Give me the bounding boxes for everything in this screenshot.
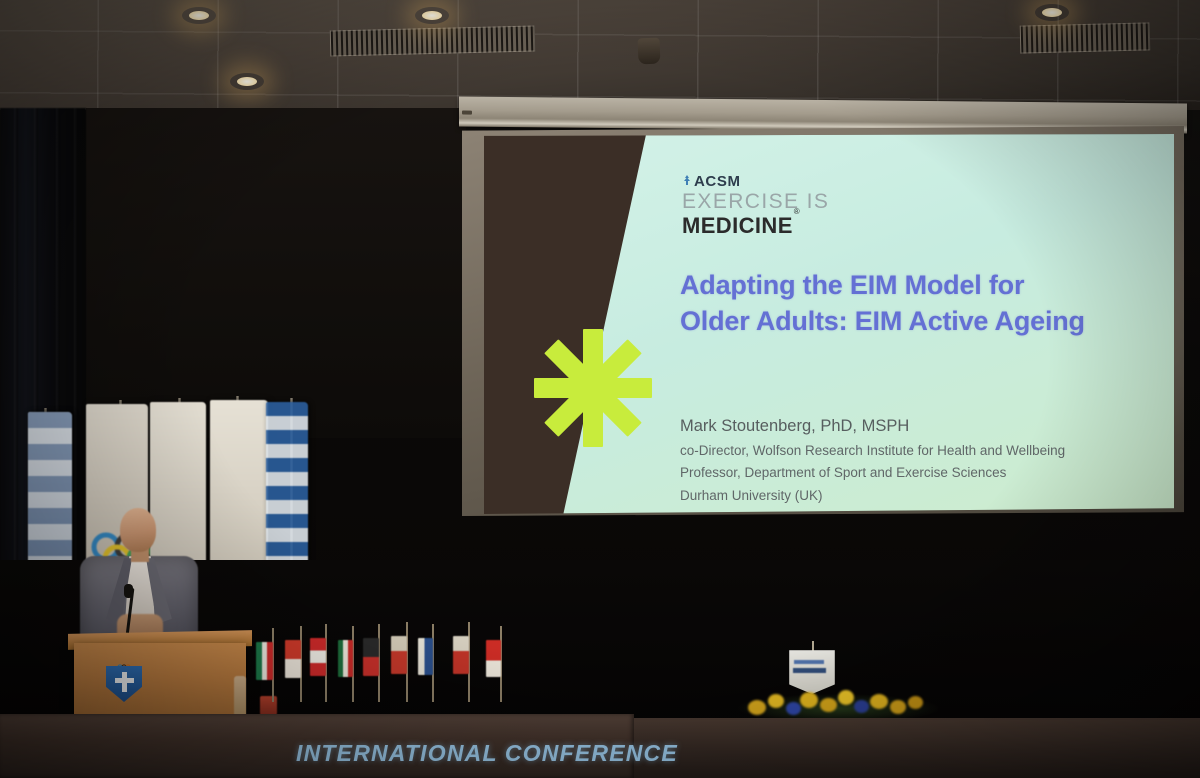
presenter-name: Mark Stoutenberg, PhD, MSPH	[680, 414, 1150, 440]
table-flag	[363, 638, 379, 676]
ceiling-downlight-3	[230, 73, 264, 90]
eim-line1: EXERCISE IS	[682, 190, 882, 214]
rear-wall	[86, 108, 466, 438]
acsm-torch-icon	[682, 175, 692, 186]
presenter-role-2: Professor, Department of Sport and Exerc…	[680, 462, 1150, 485]
stage-front-panel-right	[634, 720, 1200, 778]
ceiling-vent-right	[1020, 22, 1151, 53]
trademark-symbol: ®	[794, 207, 800, 216]
greek-cross-horizontal	[115, 678, 134, 683]
flower-arrangement	[742, 682, 932, 722]
table-flag	[256, 642, 273, 680]
eim-line2: MEDICINE®	[682, 214, 799, 237]
valance-end-cap	[462, 111, 472, 115]
ceiling-vent-left	[330, 25, 536, 56]
asterisk-icon	[529, 324, 657, 452]
ceiling-downlight-2	[415, 7, 449, 24]
slide-title-line1: Adapting the EIM Model for	[680, 267, 1158, 303]
table-flag	[310, 638, 326, 676]
pennant-logo-line-2	[793, 668, 826, 673]
slide-title-line2: Older Adults: EIM Active Ageing	[680, 303, 1158, 339]
pennant-logo-line-1	[794, 660, 824, 664]
podium-crest	[106, 658, 142, 702]
table-flag	[338, 640, 353, 677]
eim-line2-text: MEDICINE	[682, 213, 793, 238]
acsm-wordmark: ACSM	[694, 174, 741, 189]
table-flag	[418, 638, 433, 675]
projection-screen: ACSM EXERCISE IS MEDICINE® Adapting the …	[459, 100, 1187, 518]
speaker-head	[120, 508, 156, 552]
screen-surface: ACSM EXERCISE IS MEDICINE® Adapting the …	[462, 126, 1184, 516]
presenter-affiliation: Durham University (UK)	[680, 485, 1150, 508]
presenter-role-1: co-Director, Wolfson Research Institute …	[680, 440, 1150, 463]
table-flag	[285, 640, 301, 678]
eim-logo: ACSM EXERCISE IS MEDICINE®	[682, 174, 882, 238]
presentation-slide: ACSM EXERCISE IS MEDICINE® Adapting the …	[484, 134, 1174, 514]
water-bottle	[234, 676, 246, 718]
microphone-head	[124, 584, 133, 598]
acsm-lockup: ACSM	[682, 174, 882, 189]
ceiling-downlight-1	[182, 7, 216, 24]
ceiling-downlight-4	[1035, 4, 1069, 21]
table-flag	[486, 640, 501, 677]
conference-photo-scene: ACSM EXERCISE IS MEDICINE® Adapting the …	[0, 0, 1200, 778]
table-flag	[391, 636, 407, 674]
slide-title: Adapting the EIM Model for Older Adults:…	[680, 267, 1158, 339]
presenter-block: Mark Stoutenberg, PhD, MSPH co-Director,…	[680, 414, 1150, 508]
table-flag	[453, 636, 469, 674]
conference-banner-text: INTERNATIONAL CONFERENCE	[296, 740, 678, 767]
smoke-detector-icon	[638, 38, 661, 65]
